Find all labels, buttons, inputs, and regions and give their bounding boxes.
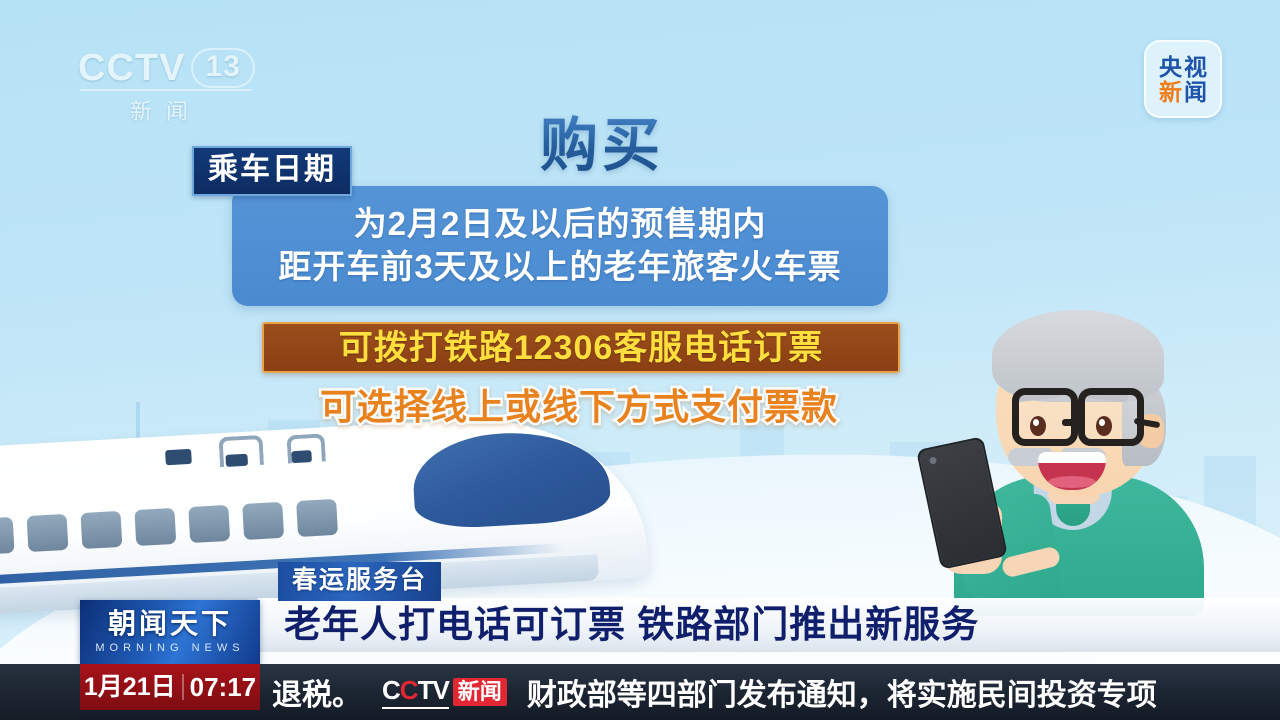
- cctv-sub-label: 新闻: [78, 94, 254, 126]
- cctv-wordmark: CCTV: [78, 49, 185, 87]
- ticker-logo-c1: C: [382, 675, 400, 705]
- logo-char-shi: 视: [1184, 55, 1207, 79]
- glasses-icon: [1012, 388, 1078, 446]
- info-line-2: 距开车前3天及以上的老年旅客火车票: [232, 245, 888, 288]
- ticker-cctv-logo: CCTV 新闻: [378, 674, 511, 710]
- infographic-title: 购买: [540, 98, 664, 182]
- lower-third-bar: 老年人打电话可订票 铁路部门推出新服务: [258, 598, 1280, 652]
- ticker-logo-tv: TV: [418, 675, 449, 705]
- payment-options-text: 可选择线上或线下方式支付票款: [262, 378, 896, 430]
- ticker-logo-c2: C: [400, 675, 418, 705]
- broadcast-time: 07:17: [190, 673, 257, 701]
- program-name-cn: 朝闻天下: [108, 609, 232, 639]
- logo-char-yang: 央: [1159, 55, 1182, 79]
- ticker-previous-text: 退税。: [272, 670, 362, 714]
- eligibility-info-box: 为2月2日及以后的预售期内 距开车前3天及以上的老年旅客火车票: [232, 186, 888, 306]
- ticker-left-cap: [0, 664, 80, 720]
- logo-char-xin: 新: [1159, 80, 1182, 104]
- logo-char-wen: 闻: [1184, 80, 1207, 104]
- glasses-icon: [1078, 388, 1144, 446]
- headline-text: 老年人打电话可订票 铁路部门推出新服务: [258, 604, 979, 646]
- program-logo: 朝闻天下 MORNING NEWS: [80, 600, 260, 664]
- section-badge: 春运服务台: [278, 562, 441, 601]
- ticker-cctv-wordmark: CCTV: [382, 675, 449, 709]
- program-name-en: MORNING NEWS: [95, 641, 244, 655]
- hotline-highlight-bar: 可拨打铁路12306客服电话订票: [262, 322, 900, 373]
- cctv13-channel-bug: CCTV 13 新闻: [78, 48, 254, 124]
- hotline-text: 可拨打铁路12306客服电话订票: [339, 329, 824, 367]
- travel-date-badge: 乘车日期: [192, 146, 352, 196]
- yangshi-xinwen-logo: 央 视 新 闻: [1144, 40, 1222, 118]
- cctv-channel-number: 13: [191, 48, 254, 88]
- tv-broadcast-screen: CCTV 13 新闻 央 视 新 闻 购买 乘车日期 为2月2日及以后的预售期内…: [0, 0, 1280, 720]
- ticker-headline: 财政部等四部门发布通知，将实施民间投资专项: [527, 670, 1157, 714]
- ticker-logo-tag: 新闻: [453, 678, 507, 706]
- infographic-title-text: 购买: [540, 113, 664, 178]
- date-time-box: 1月21日 07:17: [80, 664, 260, 710]
- info-line-1: 为2月2日及以后的预售期内: [232, 202, 888, 245]
- broadcast-date: 1月21日: [84, 673, 176, 701]
